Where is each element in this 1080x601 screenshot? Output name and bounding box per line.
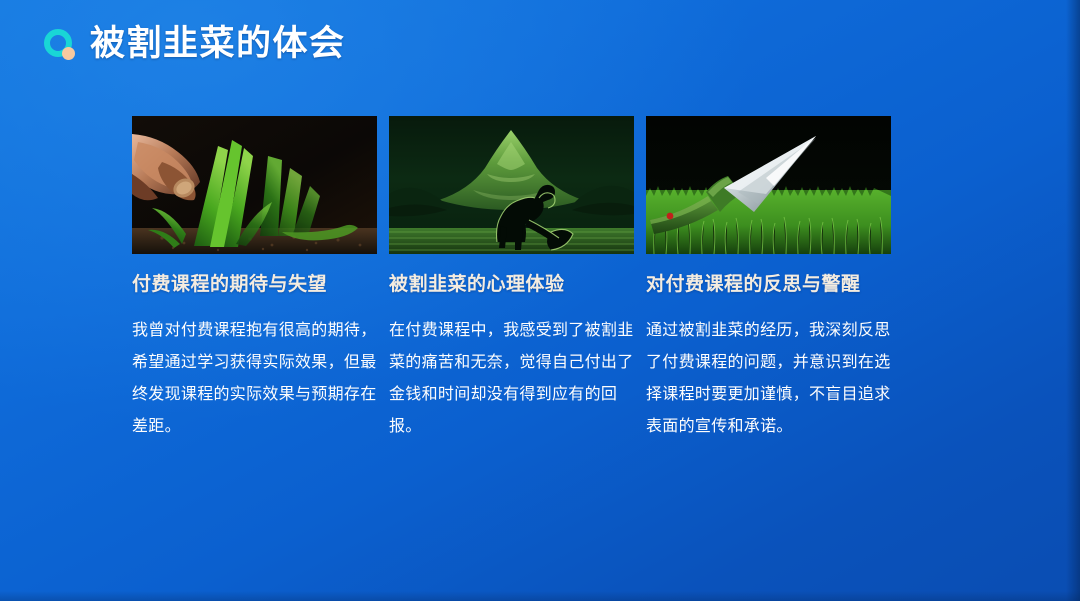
column-3: 对付费课程的反思与警醒 通过被割韭菜的经历，我深刻反思了付费课程的问题，并意识到…	[646, 116, 891, 443]
slide-canvas: 被割韭菜的体会	[0, 0, 1080, 601]
column-3-body: 通过被割韭菜的经历，我深刻反思了付费课程的问题，并意识到在选择课程时要更加谨慎，…	[646, 315, 891, 443]
ring-dot-logo-icon	[44, 29, 74, 59]
column-1-body: 我曾对付费课程抱有很高的期待，希望通过学习获得实际效果，但最终发现课程的实际效果…	[132, 315, 377, 443]
column-2-body: 在付费课程中，我感受到了被割韭菜的痛苦和无奈，觉得自己付出了金钱和时间却没有得到…	[389, 315, 634, 443]
column-2: 被割韭菜的心理体验 在付费课程中，我感受到了被割韭菜的痛苦和无奈，觉得自己付出了…	[389, 116, 634, 443]
farmer-silhouette-mountain-image	[389, 116, 634, 254]
blade-on-grass-image	[646, 116, 891, 254]
column-1-heading: 付费课程的期待与失望	[132, 272, 377, 299]
column-1: 付费课程的期待与失望 我曾对付费课程抱有很高的期待，希望通过学习获得实际效果，但…	[132, 116, 377, 443]
column-3-heading: 对付费课程的反思与警醒	[646, 272, 891, 299]
content-columns: 付费课程的期待与失望 我曾对付费课程抱有很高的期待，希望通过学习获得实际效果，但…	[132, 116, 890, 443]
page-title: 被割韭菜的体会	[90, 26, 346, 61]
hand-grabbing-chives-image	[132, 116, 377, 254]
slide-header: 被割韭菜的体会	[44, 26, 346, 61]
column-2-heading: 被割韭菜的心理体验	[389, 272, 634, 299]
logo-dot-shape	[62, 47, 75, 60]
